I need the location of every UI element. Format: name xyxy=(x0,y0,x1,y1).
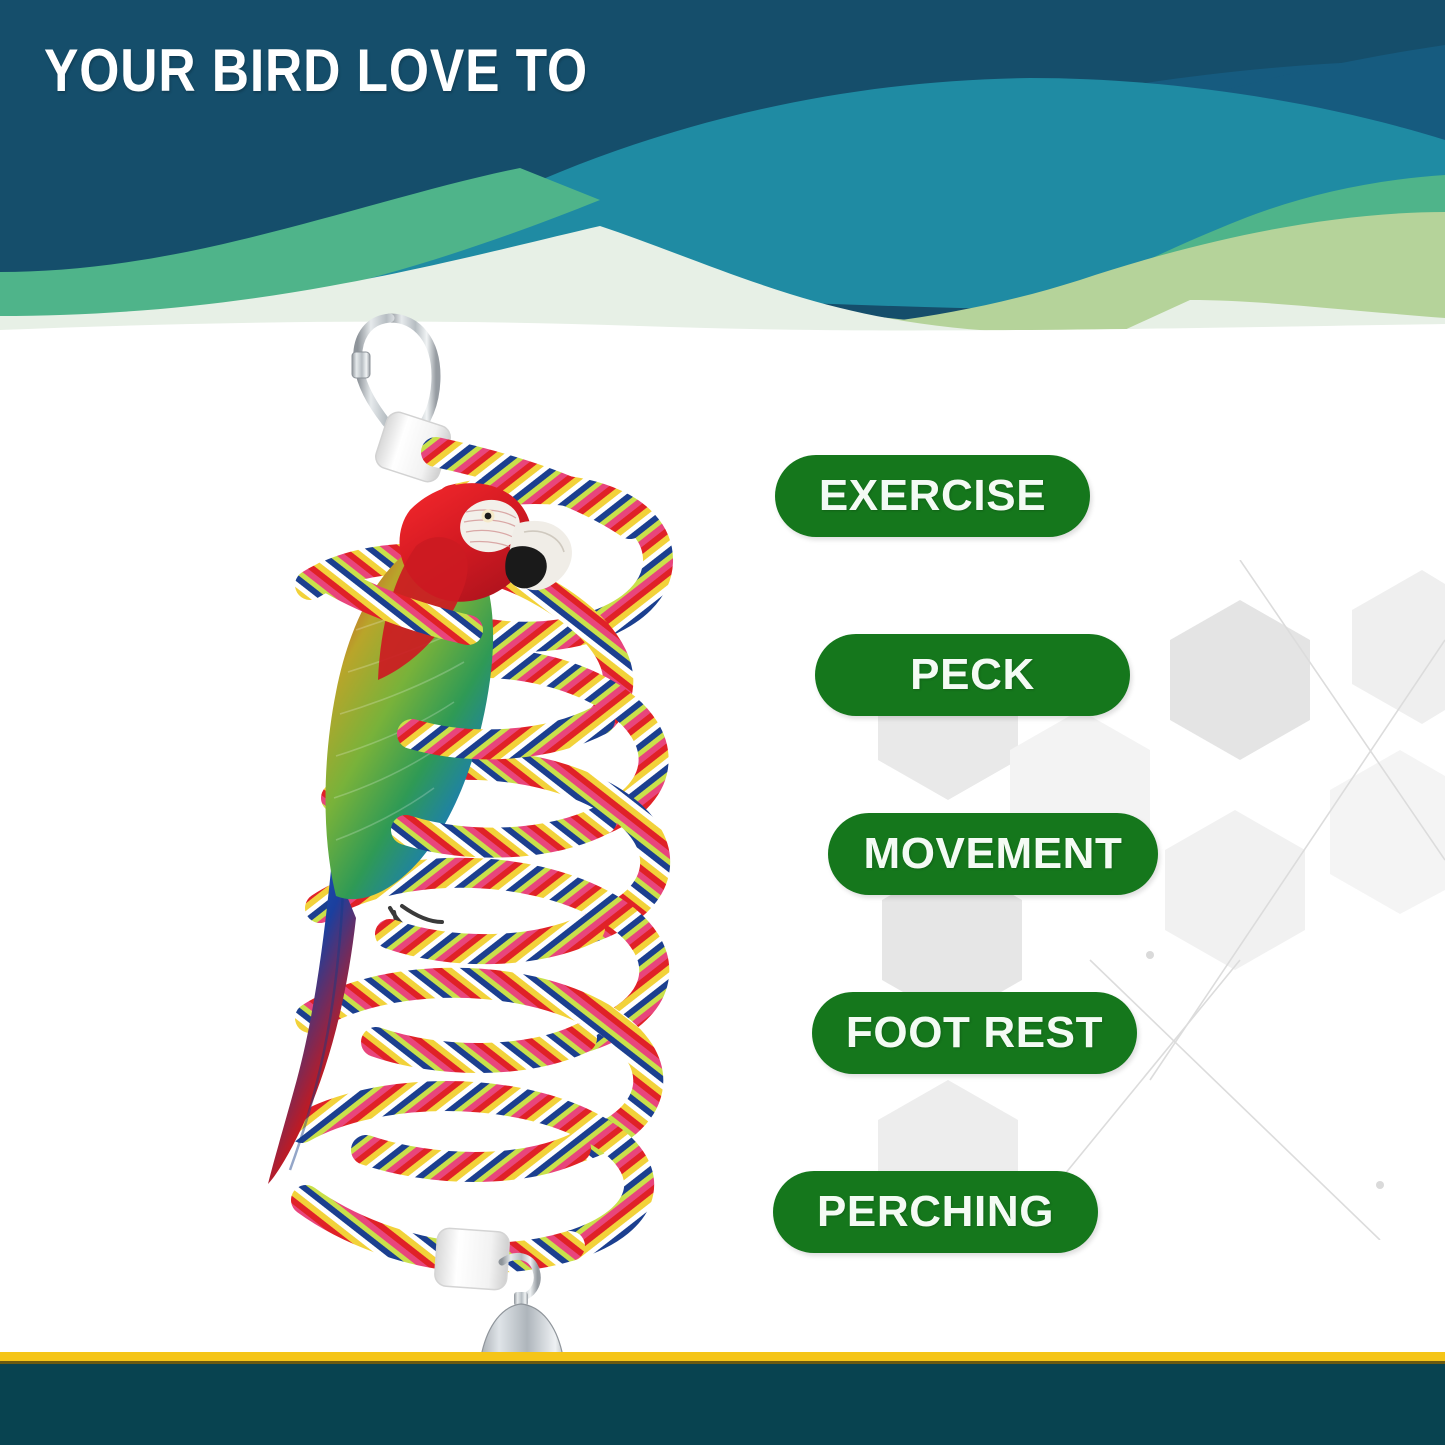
footer-teal-band xyxy=(0,1364,1445,1445)
hexagon-shape xyxy=(1165,810,1305,970)
hexagon-shape xyxy=(1352,570,1445,724)
badge-perching[interactable]: PERCHING xyxy=(773,1171,1098,1253)
infographic-canvas: YOUR BIRD LOVE TO xyxy=(0,0,1445,1445)
product-photo xyxy=(240,300,740,1380)
carabiner-sleeve xyxy=(352,352,370,378)
badge-peck[interactable]: PECK xyxy=(815,634,1130,716)
hexagon-shape xyxy=(1170,600,1310,760)
page-title: YOUR BIRD LOVE TO xyxy=(44,36,588,105)
node-dot xyxy=(1146,951,1154,959)
diagonal-line xyxy=(1090,960,1380,1240)
badge-exercise[interactable]: EXERCISE xyxy=(775,455,1090,537)
footer-gold-stripe xyxy=(0,1352,1445,1361)
node-dot xyxy=(1376,1181,1384,1189)
badge-movement[interactable]: MOVEMENT xyxy=(828,813,1158,895)
badge-foot-rest[interactable]: FOOT REST xyxy=(812,992,1137,1074)
bottom-end-cap xyxy=(434,1228,510,1291)
